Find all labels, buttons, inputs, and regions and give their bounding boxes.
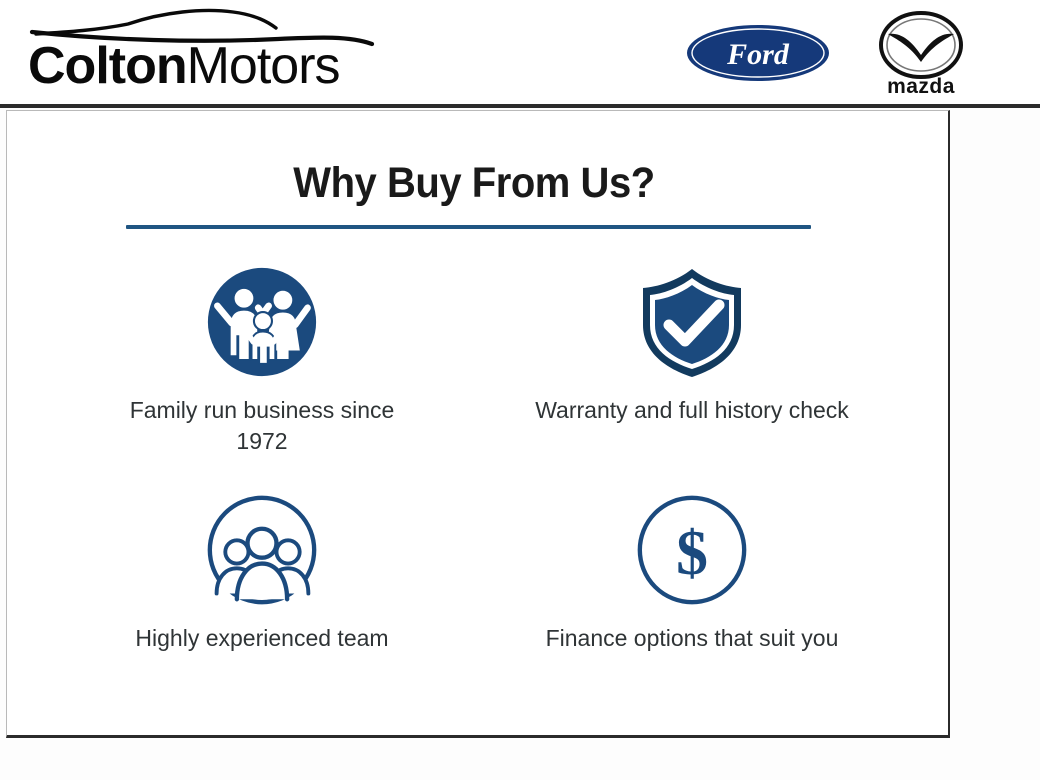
header-divider xyxy=(0,104,1040,108)
svg-text:$: $ xyxy=(676,517,708,588)
brand-name-light: Motors xyxy=(187,37,340,95)
shield-check-icon xyxy=(633,263,751,381)
feature-caption: Finance options that suit you xyxy=(532,623,852,654)
page-header: ColtonMotors Ford mazda xyxy=(0,0,1040,108)
page-title: Why Buy From Us? xyxy=(40,159,909,208)
feature-experienced-team: Highly experienced team xyxy=(47,481,477,703)
why-buy-from-us-card: Why Buy From Us? xyxy=(6,110,950,738)
mazda-wings-logo[interactable]: mazda xyxy=(866,10,976,100)
feature-finance-options: $ Finance options that suit you xyxy=(477,481,907,703)
features-grid: Family run business since 1972 Warranty … xyxy=(47,253,907,703)
people-team-icon xyxy=(203,491,321,609)
svg-text:mazda: mazda xyxy=(887,75,955,98)
colton-motors-wordmark: ColtonMotors xyxy=(28,40,388,92)
feature-warranty-history-check: Warranty and full history check xyxy=(477,253,907,475)
ford-oval-logo[interactable]: Ford xyxy=(684,22,832,84)
feature-family-run-business: Family run business since 1972 xyxy=(47,253,477,475)
svg-text:Ford: Ford xyxy=(726,38,790,71)
colton-motors-logo[interactable]: ColtonMotors xyxy=(28,6,388,102)
feature-caption: Warranty and full history check xyxy=(532,395,852,426)
feature-caption: Highly experienced team xyxy=(102,623,422,654)
title-divider xyxy=(126,225,811,229)
feature-caption: Family run business since 1972 xyxy=(102,395,422,457)
family-group-icon xyxy=(203,263,321,381)
dollar-sign-circle-icon: $ xyxy=(633,491,751,609)
brand-name-bold: Colton xyxy=(28,37,187,95)
